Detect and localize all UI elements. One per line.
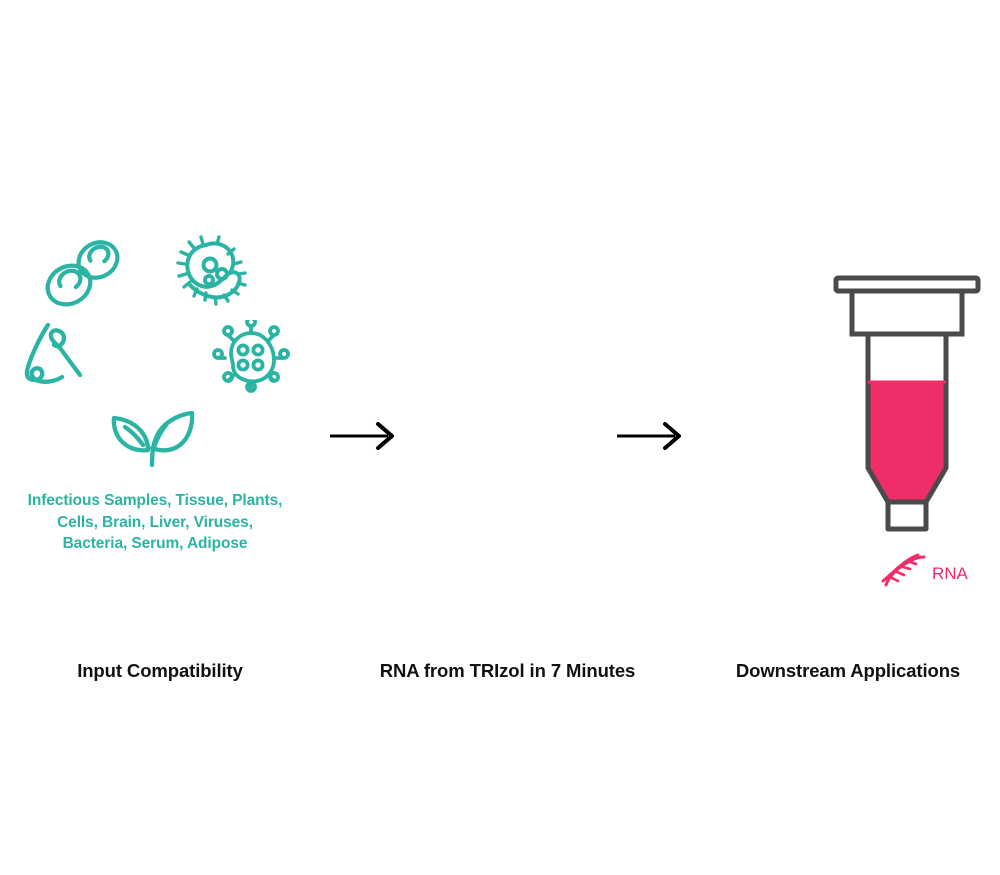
plant-icon bbox=[102, 393, 202, 474]
nasal-swab-icon bbox=[18, 318, 94, 403]
blood-cells-icon bbox=[42, 237, 128, 314]
flow-arrow-1-icon bbox=[328, 418, 400, 459]
sample-line-3: Bacteria, Serum, Adipose bbox=[0, 533, 310, 555]
virus-icon bbox=[212, 320, 290, 403]
sample-line-1: Infectious Samples, Tissue, Plants, bbox=[0, 490, 310, 512]
downstream-applications-panel: Reverse Transcriptase PCR (RT-PCR) Next-… bbox=[700, 0, 1000, 875]
sample-types-list: Infectious Samples, Tissue, Plants, Cell… bbox=[0, 490, 310, 555]
step-title-downstream-applications: Downstream Applications bbox=[698, 660, 998, 682]
input-icon-cluster bbox=[0, 225, 320, 475]
bacteria-icon bbox=[172, 233, 252, 318]
input-compatibility-panel: Infectious Samples, Tissue, Plants, Cell… bbox=[0, 0, 320, 875]
workflow-diagram: Infectious Samples, Tissue, Plants, Cell… bbox=[0, 0, 1000, 875]
flow-arrow-2-icon bbox=[615, 418, 687, 459]
extraction-panel: RNA bbox=[400, 0, 615, 875]
step-title-input-compatibility: Input Compatibility bbox=[0, 660, 320, 682]
sample-line-2: Cells, Brain, Liver, Viruses, bbox=[0, 512, 310, 534]
step-title-rna-extraction: RNA from TRIzol in 7 Minutes bbox=[355, 660, 660, 682]
